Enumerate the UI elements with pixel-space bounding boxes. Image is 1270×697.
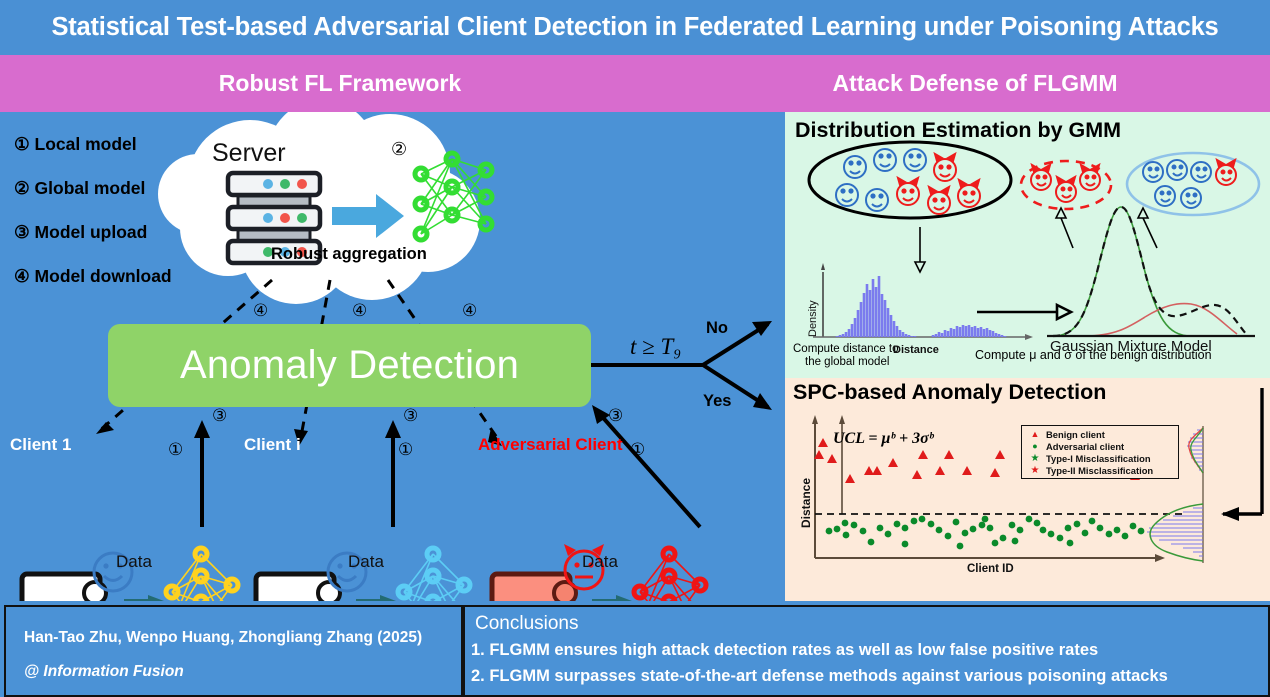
gmm-section-title: Distribution Estimation by GMM: [795, 118, 1121, 143]
poster-title-bar: Statistical Test-based Adversarial Clien…: [0, 0, 1270, 55]
legend-row-type-ii: ★ Type-II Misclassification: [1028, 464, 1178, 476]
authors-line: Han-Tao Zhu, Wenpo Huang, Zhongliang Zha…: [24, 629, 422, 647]
conclusions-title: Conclusions: [475, 613, 579, 635]
adversarial-upload-arrow: [598, 412, 700, 527]
conclusion-item-2: 2. FLGMM surpasses state-of-the-art defe…: [471, 667, 1168, 686]
adversarial-model-nn-icon: [640, 554, 700, 601]
compute-distance-note: Compute distance to the global model: [793, 343, 898, 369]
adversarial-client-person-icon: [525, 582, 578, 601]
client-1-local-nn-nodes-icon: [166, 548, 238, 601]
compute-distance-arrow: [915, 227, 925, 272]
step-legend: ① Local model ② Global model ③ Model upl…: [14, 134, 229, 310]
adversarial-data-label: Data: [582, 552, 618, 572]
distance-histogram: [813, 263, 1033, 340]
client-1-upload-marker: ③: [212, 406, 227, 426]
anomaly-detection-label: Anomaly Detection: [180, 343, 519, 388]
global-model-network-icon: [421, 159, 486, 234]
adversarial-client-points: [826, 516, 1145, 550]
download-marker-1: ④: [253, 301, 268, 321]
conclusions-box: Conclusions 1. FLGMM ensures high attack…: [463, 605, 1270, 697]
adversarial-upload-marker: ③: [608, 406, 623, 426]
adversarial-marker-icon: ●: [1028, 441, 1042, 451]
distance-axis-label: Distance: [893, 344, 939, 356]
benign-cluster-misclassified-face: [1216, 160, 1236, 185]
spc-legend: ▲ Benign client ● Adversarial client ★ T…: [1021, 425, 1179, 479]
legend-label-benign: Benign client: [1046, 429, 1105, 440]
anomaly-detection-box[interactable]: Anomaly Detection: [108, 324, 591, 407]
type-i-marker-icon: ★: [1028, 453, 1042, 464]
band-label-right: Attack Defense of FLGMM: [680, 55, 1270, 112]
client-i-local-marker: ①: [398, 440, 413, 460]
robust-aggregation-label: Robust aggregation: [271, 245, 427, 264]
legend-row-adversarial: ● Adversarial client: [1028, 440, 1178, 452]
adversarial-client-laptop-icon: [484, 574, 578, 601]
adversary-cluster-ellipse: [1021, 161, 1111, 209]
adversary-cluster-faces: [1031, 165, 1100, 202]
section-band: Robust FL Framework Attack Defense of FL…: [0, 55, 1270, 112]
venue-line: @ Information Fusion: [24, 663, 184, 681]
robust-fl-framework-panel: ① Local model ② Global model ③ Model upl…: [0, 112, 782, 601]
poster-root: Statistical Test-based Adversarial Clien…: [0, 0, 1270, 697]
legend-row-type-i: ★ Type-I Misclassification: [1028, 452, 1178, 464]
density-axis-label: Density: [807, 300, 819, 337]
compute-distance-note-line2: the global model: [793, 356, 898, 369]
mixed-adversary-faces: [897, 154, 980, 214]
threshold-formula: t ≥ T₉: [630, 334, 681, 360]
spc-svg: [785, 378, 1270, 601]
client-i-label: Client i: [244, 435, 301, 455]
benign-cluster-ellipse: [1127, 153, 1259, 215]
mixed-population-ellipse: [809, 142, 1011, 218]
legend-label-type-i: Type-I Misclassification: [1046, 453, 1151, 464]
download-marker-3: ④: [462, 301, 477, 321]
server-label: Server: [212, 139, 286, 168]
gmm-transform-arrow: [977, 305, 1071, 319]
download-marker-2: ④: [352, 301, 367, 321]
global-model-nodes-icon: [415, 153, 492, 240]
client-i-person-icon: [289, 582, 342, 601]
client-1-data-label: Data: [116, 552, 152, 572]
client-1-person-icon: [55, 582, 108, 601]
adversarial-local-marker: ①: [630, 440, 645, 460]
legend-label-type-ii: Type-II Misclassification: [1046, 465, 1153, 476]
band-label-left: Robust FL Framework: [0, 55, 680, 112]
spc-y-axis-label: Distance: [799, 478, 813, 528]
client-i-data-label: Data: [348, 552, 384, 572]
branch-label-no: No: [706, 319, 728, 338]
compute-distance-note-line1: Compute distance to: [793, 343, 898, 356]
branch-label-yes: Yes: [703, 392, 731, 411]
client-i-upload-marker: ③: [403, 406, 418, 426]
global-model-marker: ②: [391, 139, 407, 160]
client-i-laptop-icon: [248, 574, 342, 601]
cluster-pointer-arrows: [1056, 208, 1157, 248]
spc-section-title: SPC-based Anomaly Detection: [793, 380, 1106, 405]
adversarial-client-label: Adversarial Client: [478, 435, 623, 455]
ucl-formula: UCL = μᵇ + 3σᵇ: [833, 430, 933, 448]
decision-arrowheads: [752, 321, 772, 410]
client-1-laptop-icon: [14, 574, 108, 601]
gmm-section: Distribution Estimation by GMM: [785, 112, 1270, 378]
client-1-label: Client 1: [10, 435, 71, 455]
legend-item-local-model: ① Local model: [14, 134, 229, 155]
legend-item-global-model: ② Global model: [14, 178, 229, 199]
mixed-benign-faces: [836, 149, 926, 211]
benign-marker-icon: ▲: [1028, 429, 1042, 439]
benign-cluster-faces: [1143, 160, 1211, 208]
conclusion-item-1: 1. FLGMM ensures high attack detection r…: [471, 641, 1098, 660]
spc-section: SPC-based Anomaly Detection: [785, 378, 1270, 601]
gmm-curves: [1047, 207, 1255, 336]
attack-defense-panel: Distribution Estimation by GMM: [785, 112, 1270, 601]
spc-feedback-arrowhead: [1221, 507, 1239, 521]
gmm-caption: Gaussian Mixture Model: [1050, 338, 1212, 355]
page-title: Statistical Test-based Adversarial Clien…: [51, 13, 1218, 42]
type-ii-marker-icon: ★: [1028, 465, 1042, 476]
legend-item-model-upload: ③ Model upload: [14, 222, 229, 243]
legend-row-benign: ▲ Benign client: [1028, 428, 1178, 440]
legend-label-adversarial: Adversarial client: [1046, 441, 1124, 452]
client-1-local-marker: ①: [168, 440, 183, 460]
footer: Han-Tao Zhu, Wenpo Huang, Zhongliang Zha…: [0, 601, 1270, 697]
client-1-local-nn-icon: [172, 554, 232, 601]
spc-feedback-arrow: [1223, 388, 1262, 514]
client-i-local-nn-nodes-icon: [398, 548, 470, 601]
client-i-local-nn-icon: [404, 554, 464, 601]
spc-x-axis-label: Client ID: [967, 563, 1014, 575]
legend-item-model-download: ④ Model download: [14, 266, 229, 287]
adversarial-model-nn-nodes-icon: [634, 548, 706, 601]
authors-box: Han-Tao Zhu, Wenpo Huang, Zhongliang Zha…: [4, 605, 463, 697]
aggregation-arrow-icon: [332, 194, 404, 238]
